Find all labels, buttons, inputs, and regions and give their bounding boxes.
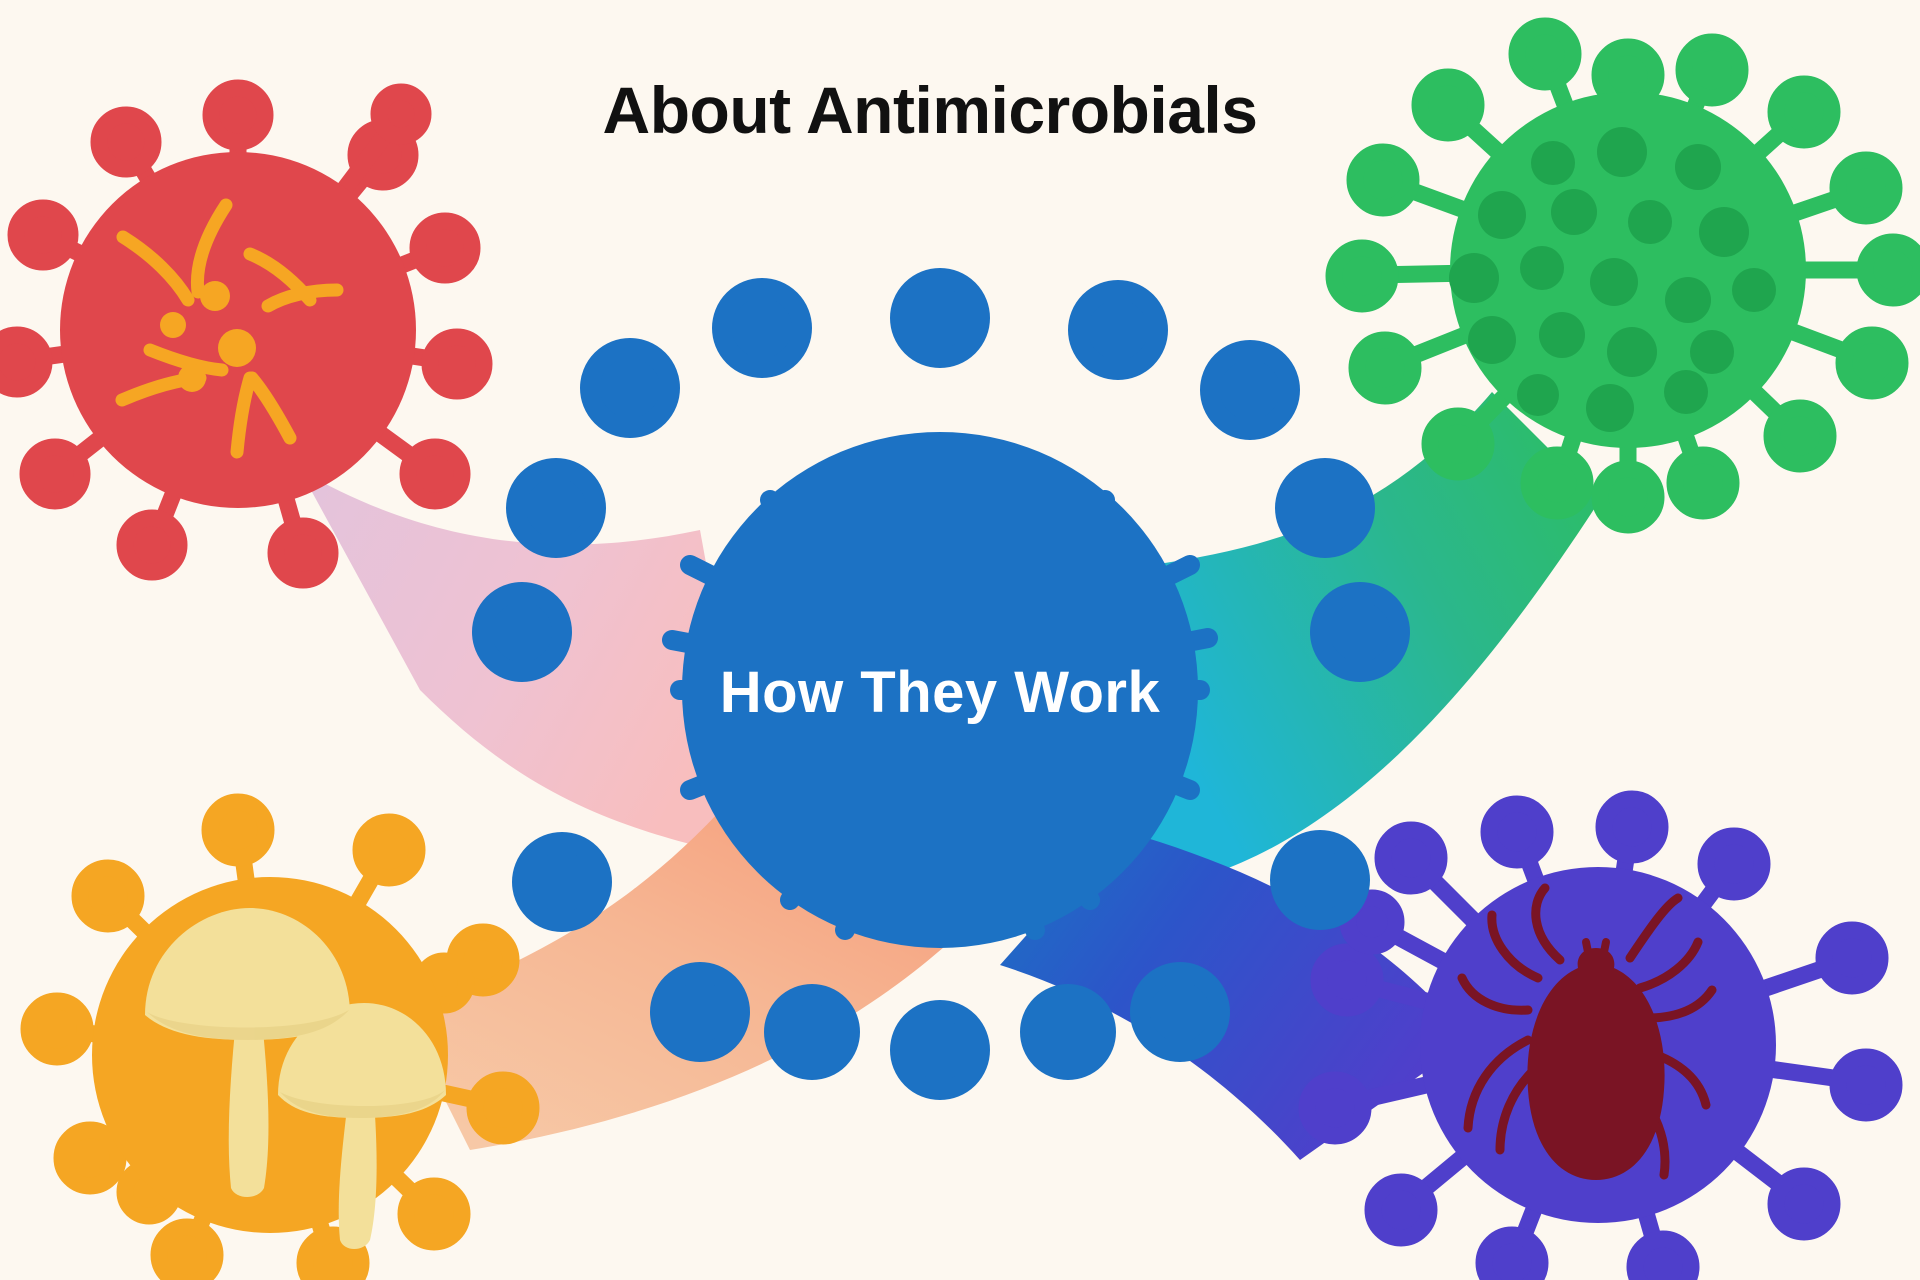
infographic-canvas: How They Work About Antimicrobials [0,0,1920,1280]
hub-label: How They Work [720,660,1161,725]
antimicrobials-diagram: How They Work About Antimicrobials [0,0,1920,1280]
page-title: About Antimicrobials [603,73,1258,147]
